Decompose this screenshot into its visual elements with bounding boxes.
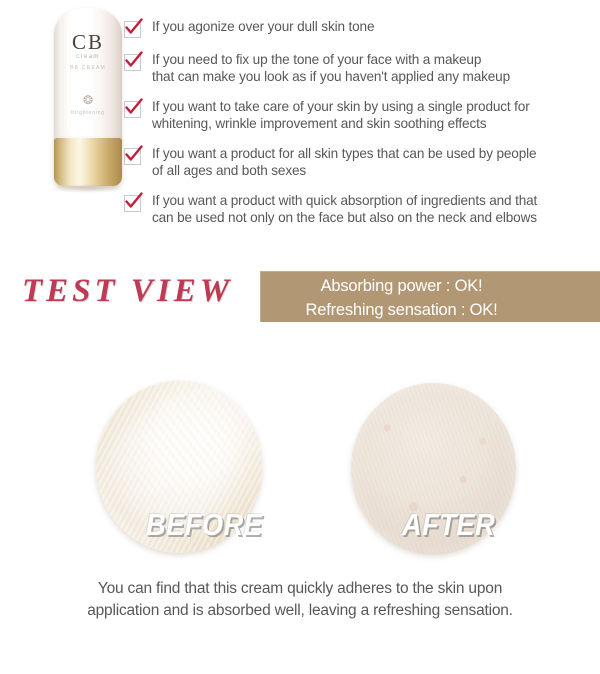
list-item-line: If you want a product with quick absorpt…: [152, 192, 537, 209]
check-mark-icon: [124, 148, 141, 165]
list-item-line: If you want a product for all skin types…: [152, 145, 536, 162]
comparison-caption: You can find that this cream quickly adh…: [50, 578, 550, 622]
list-item-text: If you want a product with quick absorpt…: [152, 192, 537, 226]
test-view-title: TEST VIEW: [22, 273, 233, 310]
list-item: If you want a product with quick absorpt…: [124, 192, 590, 226]
after-label: AFTER: [402, 507, 495, 543]
check-mark-icon: [124, 54, 141, 71]
test-result-band: Absorbing power : OK! Refreshing sensati…: [260, 271, 600, 322]
check-mark-icon: [124, 195, 141, 212]
list-item-line: If you want to take care of your skin by…: [152, 98, 530, 115]
tube-brand-label: CB: [44, 32, 132, 53]
benefits-checklist: If you agonize over your dull skin tone …: [124, 18, 590, 239]
list-item-line: that can make you look as if you haven't…: [152, 68, 510, 85]
tube-cap: [54, 138, 122, 186]
tube-shadow: [50, 184, 126, 193]
tube-subtitle-cream: cream: [44, 54, 132, 60]
product-tube-image: CB cream BB CREAM ❂ brightening: [44, 8, 132, 190]
list-item-line: of all ages and both sexes: [152, 162, 536, 179]
before-label: BEFORE: [146, 507, 262, 543]
list-item: If you agonize over your dull skin tone: [124, 18, 590, 38]
list-item-line: If you agonize over your dull skin tone: [152, 18, 374, 35]
test-result-absorbing: Absorbing power : OK!: [261, 272, 600, 298]
test-result-refreshing: Refreshing sensation : OK!: [261, 298, 600, 322]
list-item-text: If you agonize over your dull skin tone: [152, 18, 374, 35]
list-item-text: If you want a product for all skin types…: [152, 145, 536, 179]
list-item-line: can be used not only on the face but als…: [152, 209, 537, 226]
list-item-line: If you need to fix up the tone of your f…: [152, 51, 510, 68]
list-item: If you want to take care of your skin by…: [124, 98, 590, 132]
flower-icon: ❂: [82, 94, 94, 106]
check-mark-icon: [124, 101, 141, 118]
tube-subtitle-brightening: brightening: [44, 110, 132, 116]
list-item: If you want a product for all skin types…: [124, 145, 590, 179]
caption-line: application and is absorbed well, leavin…: [50, 600, 550, 622]
list-item-text: If you want to take care of your skin by…: [152, 98, 530, 132]
tube-subtitle-bbcream: BB CREAM: [44, 65, 132, 71]
list-item: If you need to fix up the tone of your f…: [124, 51, 590, 85]
list-item-text: If you need to fix up the tone of your f…: [152, 51, 510, 85]
caption-line: You can find that this cream quickly adh…: [50, 578, 550, 600]
check-mark-icon: [124, 21, 141, 38]
list-item-line: whitening, wrinkle improvement and skin …: [152, 115, 530, 132]
tube-body: [54, 8, 122, 144]
